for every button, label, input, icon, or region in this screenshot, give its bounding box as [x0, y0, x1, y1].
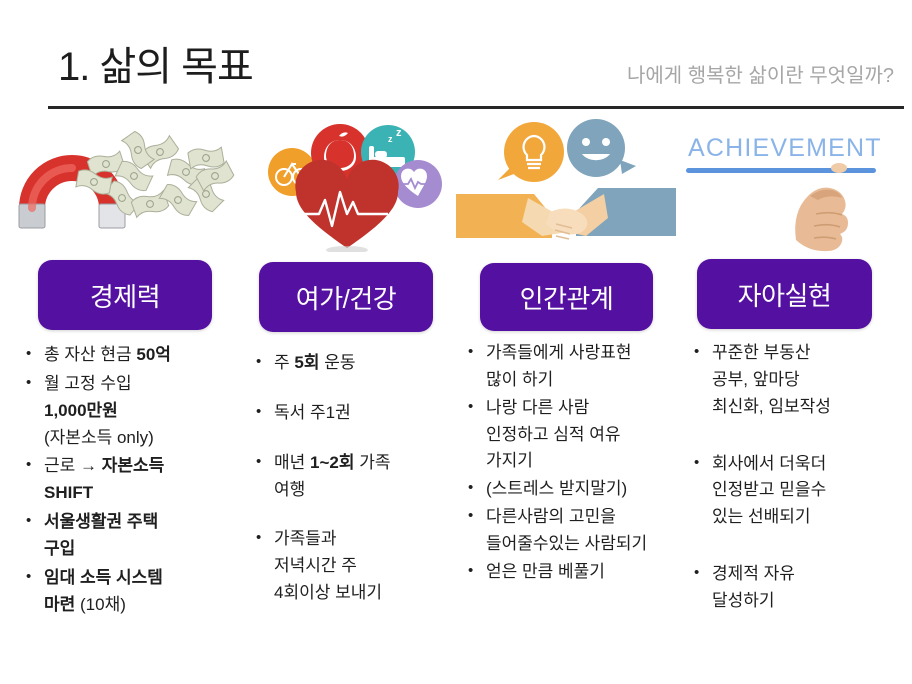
bullet-text: (10채) — [80, 595, 126, 614]
bullet-item: 나랑 다른 사람인정하고 심적 여유가지기 — [464, 395, 676, 476]
bullet-line: 많이 하기 — [486, 367, 676, 394]
handshake-speech-bubbles-image — [456, 112, 676, 252]
bullet-item: 꾸준한 부동산공부, 앞마당최신화, 임보작성 — [690, 340, 902, 421]
page-subtitle: 나에게 행복한 삶이란 무엇일까? — [627, 66, 894, 86]
achievement-handwriting-image: ACHIEVEMENT — [678, 112, 902, 252]
bullet-line: 경제적 자유 — [712, 561, 902, 588]
bullet-text: 4회이상 보내기 — [274, 583, 382, 602]
bullet-item: 서울생활권 주택구입 — [22, 509, 238, 563]
category-header-economy[interactable]: 경제력 — [38, 260, 212, 330]
title-divider — [48, 106, 904, 109]
goal-column-economy: 경제력총 자산 현금 50억월 고정 수입1,000만원(자본소득 only)근… — [10, 112, 238, 684]
svg-text:ACHIEVEMENT: ACHIEVEMENT — [688, 134, 882, 162]
bullet-item: 총 자산 현금 50억 — [22, 342, 238, 369]
bullet-list-economy: 총 자산 현금 50억월 고정 수입1,000만원(자본소득 only)근로 →… — [22, 342, 238, 621]
goal-column-leisure-health: zz여가/건강주 5회 운동독서 주1권매년 1~2회 가족여행가족들과저녁시간… — [240, 112, 454, 684]
bullet-text: 주 — [274, 353, 294, 372]
bullet-line: 임대 소득 시스템 — [44, 565, 238, 592]
bullet-line: 저녁시간 주 — [274, 553, 454, 580]
bullet-item: 임대 소득 시스템마련 (10채) — [22, 565, 238, 619]
page-title: 1. 삶의 목표 — [58, 47, 253, 87]
bullet-line: 꾸준한 부동산 — [712, 340, 902, 367]
bullet-item: 가족들과저녁시간 주4회이상 보내기 — [252, 526, 454, 607]
bullet-line: 1,000만원 — [44, 398, 238, 425]
bullet-text-bold: 1~2회 — [310, 453, 354, 472]
bullet-text: 꾸준한 부동산 — [712, 343, 811, 362]
bullet-line: 나랑 다른 사람 — [486, 395, 676, 422]
bullet-line: 들어줄수있는 사람되기 — [486, 531, 676, 558]
bullet-text: 운동 — [319, 353, 355, 372]
bullet-text: 있는 선배되기 — [712, 507, 811, 526]
bullet-line: 달성하기 — [712, 588, 902, 615]
bullet-line: 매년 1~2회 가족 — [274, 450, 454, 477]
bullet-item: 매년 1~2회 가족여행 — [252, 450, 454, 504]
bullet-text-bold: 자본소득 — [102, 456, 165, 475]
bullet-list-self-realization: 꾸준한 부동산공부, 앞마당최신화, 임보작성회사에서 더욱더인정받고 믿을수있… — [690, 340, 902, 645]
bullet-line: 총 자산 현금 50억 — [44, 342, 238, 369]
bullet-text: 월 고정 수입 — [44, 374, 132, 393]
bullet-item: 경제적 자유달성하기 — [690, 561, 902, 615]
bullet-line: 여행 — [274, 477, 454, 504]
bullet-item: 근로 → 자본소득SHIFT — [22, 453, 238, 507]
bullet-text: 얻은 만큼 베풀기 — [486, 562, 605, 581]
bullet-text: 달성하기 — [712, 591, 775, 610]
bullet-line: 인정받고 믿을수 — [712, 477, 902, 504]
bullet-line: 공부, 앞마당 — [712, 367, 902, 394]
bullet-text: 저녁시간 주 — [274, 556, 357, 575]
bullet-item: 얻은 만큼 베풀기 — [464, 559, 676, 586]
bullet-line: 월 고정 수입 — [44, 371, 238, 398]
bullet-line: 얻은 만큼 베풀기 — [486, 559, 676, 586]
bullet-line: 가지기 — [486, 448, 676, 475]
bullet-text-bold: 50억 — [136, 345, 171, 364]
bullet-item: 월 고정 수입1,000만원(자본소득 only) — [22, 371, 238, 452]
category-header-relationships[interactable]: 인간관계 — [480, 263, 653, 331]
category-header-leisure-health[interactable]: 여가/건강 — [259, 262, 433, 332]
bullet-text: 들어줄수있는 사람되기 — [486, 534, 647, 553]
bullet-text: 매년 — [274, 453, 310, 472]
bullet-line: SHIFT — [44, 480, 238, 507]
bullet-line: 최신화, 임보작성 — [712, 394, 902, 421]
bullet-line: (자본소득 only) — [44, 425, 238, 452]
category-header-self-realization[interactable]: 자아실현 — [697, 259, 872, 329]
bullet-line: 서울생활권 주택 — [44, 509, 238, 536]
bullet-line: 있는 선배되기 — [712, 504, 902, 531]
svg-text:z: z — [388, 134, 393, 144]
bullet-text: 공부, 앞마당 — [712, 370, 800, 389]
bullet-text: 다른사람의 고민을 — [486, 507, 616, 526]
bullet-text: (스트레스 받지말기) — [486, 479, 627, 498]
bullet-line: 마련 (10채) — [44, 592, 238, 619]
bullet-text: 최신화, 임보작성 — [712, 397, 831, 416]
bullet-line: 인정하고 심적 여유 — [486, 422, 676, 449]
goal-column-self-realization: ACHIEVEMENT자아실현꾸준한 부동산공부, 앞마당최신화, 임보작성회사… — [678, 112, 902, 684]
bullet-item: 주 5회 운동 — [252, 350, 454, 377]
goal-columns: 경제력총 자산 현금 50억월 고정 수입1,000만원(자본소득 only)근… — [0, 112, 912, 684]
bullet-text: 여행 — [274, 480, 305, 499]
bullet-text: 가족 — [355, 453, 391, 472]
bullet-text: 독서 주1권 — [274, 403, 351, 422]
bullet-text: 경제적 자유 — [712, 564, 795, 583]
bullet-text: 총 자산 현금 — [44, 345, 136, 364]
bullet-text: 가족들과 — [274, 529, 337, 548]
bullet-line: 다른사람의 고민을 — [486, 504, 676, 531]
goal-column-relationships: 인간관계가족들에게 사랑표현많이 하기나랑 다른 사람인정하고 심적 여유가지기… — [456, 112, 676, 684]
bullet-text-bold: SHIFT — [44, 483, 93, 502]
bullet-item: 가족들에게 사랑표현많이 하기 — [464, 340, 676, 394]
bullet-text: 가족들에게 사랑표현 — [486, 343, 631, 362]
bullet-text-bold: 5회 — [294, 353, 319, 372]
bullet-item: 다른사람의 고민을들어줄수있는 사람되기 — [464, 504, 676, 558]
bullet-line: 가족들과 — [274, 526, 454, 553]
bullet-text: 회사에서 더욱더 — [712, 454, 826, 473]
bullet-text-bold: 구입 — [44, 539, 75, 558]
heart-health-infographic-image: zz — [240, 112, 454, 252]
bullet-item: 독서 주1권 — [252, 400, 454, 427]
bullet-line: 주 5회 운동 — [274, 350, 454, 377]
bullet-text-bold: 임대 소득 시스템 — [44, 568, 163, 587]
bullet-text: 인정하고 심적 여유 — [486, 425, 621, 444]
bullet-line: (스트레스 받지말기) — [486, 476, 676, 503]
bullet-list-leisure-health: 주 5회 운동독서 주1권매년 1~2회 가족여행가족들과저녁시간 주4회이상 … — [252, 350, 454, 630]
svg-text:z: z — [396, 127, 402, 139]
bullet-text-bold: 서울생활권 주택 — [44, 512, 158, 531]
bullet-line: 회사에서 더욱더 — [712, 451, 902, 478]
magnet-attracting-money-image — [10, 112, 238, 252]
bullet-text: (자본소득 only) — [44, 428, 154, 447]
bullet-text: 많이 하기 — [486, 370, 553, 389]
slide-header: 1. 삶의 목표 나에게 행복한 삶이란 무엇일까? — [0, 0, 912, 112]
bullet-line: 구입 — [44, 536, 238, 563]
bullet-item: 회사에서 더욱더인정받고 믿을수있는 선배되기 — [690, 451, 902, 532]
bullet-text-bold: 1,000만원 — [44, 401, 118, 420]
bullet-line: 4회이상 보내기 — [274, 580, 454, 607]
bullet-line: 가족들에게 사랑표현 — [486, 340, 676, 367]
bullet-text: 가지기 — [486, 451, 533, 470]
bullet-line: 독서 주1권 — [274, 400, 454, 427]
bullet-item: (스트레스 받지말기) — [464, 476, 676, 503]
bullet-text: 나랑 다른 사람 — [486, 398, 589, 417]
bullet-list-relationships: 가족들에게 사랑표현많이 하기나랑 다른 사람인정하고 심적 여유가지기(스트레… — [464, 340, 676, 587]
bullet-text-bold: 마련 — [44, 595, 80, 614]
bullet-text: 인정받고 믿을수 — [712, 480, 826, 499]
bullet-line: 근로 → 자본소득 — [44, 453, 238, 480]
bullet-text: 근로 → — [44, 456, 102, 475]
